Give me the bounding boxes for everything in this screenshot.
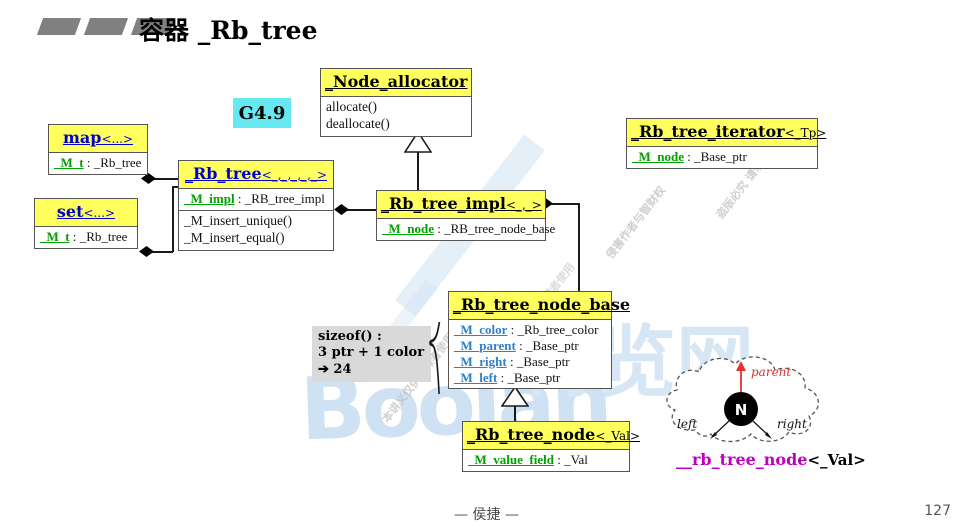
class-header: set<...>: [35, 199, 137, 227]
class-fields: _M_value_field : _Val: [463, 450, 629, 471]
cloud-node-figure: parent N left right: [655, 352, 845, 452]
class-methods: allocate() deallocate(): [321, 97, 471, 136]
class-fields: _M_node : _Base_ptr: [627, 147, 817, 168]
class-box-rb-tree-node-base[interactable]: _Rb_tree_node_base _M_color : _Rb_tree_c…: [448, 291, 612, 389]
left-label: left: [677, 417, 697, 431]
class-name: set: [57, 202, 84, 221]
field-type: _Base_ptr: [526, 338, 579, 353]
parent-label: parent: [751, 365, 791, 379]
field-label: _M_right: [454, 354, 507, 369]
class-name: map: [63, 128, 101, 147]
rb-tree-node-caption: __rb_tree_node<_Val>: [676, 450, 866, 469]
field-label: _M_t: [54, 155, 84, 170]
field-row: _M_color : _Rb_tree_color: [454, 322, 606, 338]
field-type: _RB_tree_node_base: [444, 221, 555, 236]
field-label: _M_impl: [184, 191, 235, 206]
method-row: deallocate(): [326, 116, 466, 133]
field-label: _M_left: [454, 370, 497, 385]
connector-line: [417, 152, 419, 194]
class-box-map[interactable]: map<...> _M_t : _Rb_tree: [48, 124, 148, 175]
class-box-rb-tree[interactable]: _Rb_tree<_,_,_,_,_> _M_impl : _RB_tree_i…: [178, 160, 334, 251]
class-name: _Node_allocator: [325, 72, 467, 91]
parallelogram-icon: [37, 18, 81, 35]
field-type: _RB_tree_impl: [245, 191, 325, 206]
right-label: right: [777, 417, 807, 431]
field-row: _M_node : _RB_tree_node_base: [382, 221, 540, 237]
class-name: _Rb_tree: [185, 164, 262, 183]
sizeof-annotation: sizeof() : 3 ptr + 1 color ➔ 24: [312, 326, 431, 382]
class-template-params: <_Val>: [595, 429, 640, 443]
class-template-params: <_,_>: [506, 198, 542, 212]
class-header: _Rb_tree_impl<_,_>: [377, 191, 545, 219]
class-fields: _M_impl : _RB_tree_impl: [179, 189, 333, 210]
method-row: allocate(): [326, 99, 466, 116]
connector-line: [578, 203, 580, 293]
caption-template-params: <_Val>: [807, 451, 865, 469]
version-badge: G4.9: [233, 98, 291, 128]
page-title: 容器 _Rb_tree: [139, 11, 318, 47]
method-row: _M_insert_equal(): [184, 230, 328, 247]
field-type: _Base_ptr: [694, 149, 747, 164]
field-type: _Rb_tree: [94, 155, 142, 170]
class-box-node-allocator[interactable]: _Node_allocator allocate() deallocate(): [320, 68, 472, 137]
page-number: 127: [924, 503, 951, 519]
composition-diamond-set: [139, 246, 154, 257]
slide-canvas: Boolan 博览网 本讲义仅供购课者使用 侵害作者与智财权 盗版必究 请勿外传…: [0, 0, 973, 532]
method-row: _M_insert_unique(): [184, 213, 328, 230]
field-row: _M_right : _Base_ptr: [454, 354, 606, 370]
sizeof-line-1: sizeof() :: [318, 329, 424, 345]
field-type: _Val: [564, 452, 588, 467]
class-template-params: <...>: [84, 206, 116, 220]
sizeof-line-3: ➔ 24: [318, 362, 424, 378]
class-name: _Rb_tree_node_base: [453, 295, 630, 314]
field-label: _M_node: [382, 221, 434, 236]
field-row: _M_t : _Rb_tree: [54, 155, 142, 171]
class-header: _Rb_tree_node_base: [449, 292, 611, 320]
field-label: _M_node: [632, 149, 684, 164]
field-label: _M_t: [40, 229, 70, 244]
watermark-diagonal-text: 侵害作者与智财权: [602, 183, 669, 262]
class-template-params: <_,_,_,_,_>: [262, 168, 327, 182]
class-name: _Rb_tree_iterator: [631, 122, 785, 141]
parallelogram-icon: [84, 18, 128, 35]
class-template-params: <_Tp>: [785, 126, 827, 140]
connector-line: [172, 186, 174, 252]
class-name: _Rb_tree_node: [467, 425, 595, 444]
class-fields: _M_t : _Rb_tree: [35, 227, 137, 248]
sizeof-line-2: 3 ptr + 1 color: [318, 345, 424, 361]
field-row: _M_impl : _RB_tree_impl: [184, 191, 328, 207]
footer-author: — 侯捷 —: [0, 504, 973, 524]
class-fields: _M_color : _Rb_tree_color _M_parent : _B…: [449, 320, 611, 388]
field-label: _M_parent: [454, 338, 516, 353]
class-box-rb-tree-impl[interactable]: _Rb_tree_impl<_,_> _M_node : _RB_tree_no…: [376, 190, 546, 241]
field-label: _M_value_field: [468, 452, 554, 467]
field-row: _M_parent : _Base_ptr: [454, 338, 606, 354]
field-row: _M_left : _Base_ptr: [454, 370, 606, 386]
class-box-set[interactable]: set<...> _M_t : _Rb_tree: [34, 198, 138, 249]
node-letter: N: [735, 401, 748, 419]
class-fields: _M_node : _RB_tree_node_base: [377, 219, 545, 240]
class-box-rb-tree-node[interactable]: _Rb_tree_node<_Val> _M_value_field : _Va…: [462, 421, 630, 472]
field-type: _Base_ptr: [507, 370, 560, 385]
class-header: map<...>: [49, 125, 147, 153]
class-methods: _M_insert_unique() _M_insert_equal(): [179, 210, 333, 250]
field-row: _M_value_field : _Val: [468, 452, 624, 468]
field-row: _M_t : _Rb_tree: [40, 229, 132, 245]
field-type: _Base_ptr: [517, 354, 570, 369]
class-header: _Rb_tree_iterator<_Tp>: [627, 119, 817, 147]
class-box-rb-tree-iterator[interactable]: _Rb_tree_iterator<_Tp> _M_node : _Base_p…: [626, 118, 818, 169]
caption-class-name: __rb_tree_node: [676, 450, 807, 469]
rb-tree-node-illustration: parent N left right: [655, 352, 845, 447]
class-name: _Rb_tree_impl: [381, 194, 506, 213]
class-fields: _M_t : _Rb_tree: [49, 153, 147, 174]
field-label: _M_color: [454, 322, 507, 337]
composition-diamond-rb-tree-impl: [334, 204, 349, 215]
class-template-params: <...>: [101, 132, 133, 146]
class-header: _Rb_tree_node<_Val>: [463, 422, 629, 450]
field-type: _Rb_tree: [80, 229, 128, 244]
class-header: _Node_allocator: [321, 69, 471, 97]
field-type: _Rb_tree_color: [518, 322, 599, 337]
field-row: _M_node : _Base_ptr: [632, 149, 812, 165]
class-header: _Rb_tree<_,_,_,_,_>: [179, 161, 333, 189]
curly-brace-icon: [427, 322, 449, 394]
